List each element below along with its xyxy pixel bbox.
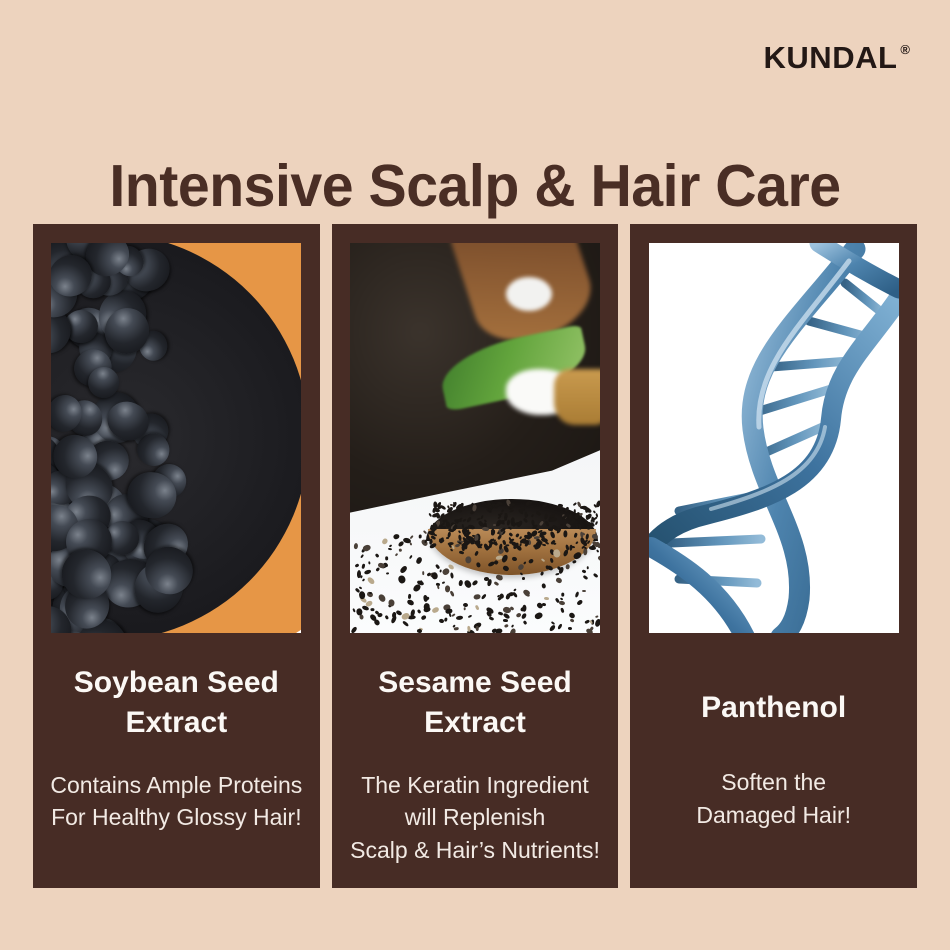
sesame-seed [474, 593, 482, 600]
sesame-seed [397, 574, 406, 584]
sesame-scene [350, 243, 600, 633]
sesame-seed [596, 549, 600, 553]
sesame-seed [399, 565, 408, 574]
sesame-seed [393, 533, 401, 540]
sesame-seed [458, 580, 463, 586]
sesame-seed [558, 566, 564, 574]
sesame-seed [374, 554, 379, 559]
ingredient-card-row: Soybean Seed Extract Contains Ample Prot… [33, 224, 917, 888]
sesame-seed [434, 563, 440, 569]
sesame-seed [582, 590, 586, 593]
sesame-seed [575, 523, 578, 529]
card-description-sesame: The Keratin Ingredient will Replenish Sc… [344, 769, 606, 867]
sesame-seed [421, 614, 427, 620]
ingredient-card-sesame: Sesame Seed Extract The Keratin Ingredie… [332, 224, 619, 888]
sesame-seed [556, 577, 564, 584]
sesame-seed [388, 600, 394, 608]
sesame-seed [557, 623, 563, 630]
dna-scene [649, 243, 899, 633]
sesame-seed [402, 620, 409, 627]
sesame-seed [401, 612, 410, 621]
sesame-seed [431, 571, 439, 580]
card-title-line: Soybean Seed [74, 666, 279, 699]
sesame-seed [543, 597, 549, 601]
sesame-seed [406, 599, 415, 607]
sesame-seed [444, 617, 448, 621]
sesame-seed [574, 591, 579, 598]
sesame-seed [570, 618, 575, 623]
sesame-seed [441, 581, 444, 584]
brand-name: KUNDAL [764, 42, 898, 73]
sesame-seed [592, 573, 598, 579]
sesame-photo [350, 243, 600, 633]
sesame-seed [471, 580, 478, 587]
sesame-seed [565, 564, 570, 570]
sesame-seed [559, 600, 566, 605]
sesame-seed [580, 531, 584, 537]
card-desc-line: Contains Ample Proteins [50, 772, 302, 798]
dna-helix-icon [649, 243, 899, 633]
sesame-seed [481, 593, 487, 599]
ingredient-card-panthenol: Panthenol Soften the Damaged Hair! [630, 224, 917, 888]
card-desc-line: For Healthy Glossy Hair! [51, 804, 302, 830]
sesame-seed [368, 561, 370, 564]
sesame-seed [586, 567, 588, 571]
sesame-seed [597, 555, 600, 562]
sesame-seed [540, 571, 544, 576]
sesame-seed [542, 602, 546, 605]
sesame-seed [494, 628, 502, 633]
card-title-line: Extract [424, 706, 526, 739]
sesame-seed [385, 615, 389, 620]
sesame-seed [574, 509, 576, 513]
sesame-seed [409, 555, 413, 559]
sesame-seed [386, 556, 389, 560]
sesame-seed [568, 612, 576, 620]
sesame-seed [375, 567, 380, 572]
sesame-seed [561, 607, 565, 613]
sesame-seed [360, 554, 364, 559]
sesame-seed [505, 513, 508, 518]
soybean-photo [51, 243, 301, 633]
card-description-panthenol: Soften the Damaged Hair! [690, 766, 857, 831]
sesame-seed [568, 627, 572, 630]
sesame-seed [551, 621, 555, 625]
sesame-seed [467, 614, 472, 618]
sesame-seed [363, 569, 371, 575]
card-description-soybean: Contains Ample Proteins For Healthy Glos… [44, 769, 308, 834]
sesame-seed [449, 590, 455, 597]
sesame-seed [512, 588, 516, 592]
sesame-seed [510, 628, 517, 633]
card-title-line: Extract [125, 706, 227, 739]
soybean-pile-shape [51, 243, 301, 633]
card-title-panthenol: Panthenol [691, 688, 856, 728]
ingredient-infographic-poster: KUNDAL ® Intensive Scalp & Hair Care Soy… [0, 0, 950, 950]
sesame-seed [494, 581, 499, 586]
sesame-seed [506, 593, 512, 600]
sesame-seed [583, 548, 587, 555]
sesame-seed [388, 548, 392, 551]
card-desc-line: Damaged Hair! [696, 802, 851, 828]
brand-logo: KUNDAL ® [764, 42, 910, 73]
sesame-seed [595, 615, 599, 617]
jar-opening-shape [506, 277, 552, 311]
sesame-seed [362, 564, 366, 570]
sesame-seed [378, 594, 388, 604]
sesame-seed [541, 583, 546, 589]
sesame-seed [353, 543, 358, 549]
sesame-seed [576, 599, 583, 606]
card-desc-line: The Keratin Ingredient [361, 772, 589, 798]
panthenol-photo [649, 243, 899, 633]
sesame-seed [594, 618, 600, 627]
sesame-seed [352, 608, 356, 612]
sesame-seed [439, 619, 445, 624]
sesame-seed [444, 608, 452, 614]
sesame-seed [590, 626, 594, 631]
soybean-cluster [51, 243, 301, 633]
card-title-soybean: Soybean Seed Extract [64, 663, 289, 743]
sesame-seed [386, 572, 389, 575]
sesame-seed [475, 604, 479, 609]
sesame-seed [555, 573, 560, 576]
sesame-seed [351, 626, 358, 633]
sesame-seed [585, 507, 588, 512]
card-desc-line: Scalp & Hair’s Nutrients! [350, 837, 600, 863]
bottom-background-strip [0, 888, 950, 950]
sesame-seed [503, 618, 509, 621]
sesame-seed [593, 516, 598, 521]
sesame-seed [458, 535, 462, 541]
sesame-seed [422, 531, 426, 535]
sesame-seed [534, 611, 543, 619]
card-title-sesame: Sesame Seed Extract [368, 663, 581, 743]
sesame-seed [511, 624, 514, 628]
sesame-seed [419, 535, 422, 539]
card-desc-line: Soften the [721, 769, 826, 795]
sesame-seed [366, 576, 375, 585]
sesame-seed [496, 574, 504, 581]
sesame-seed [456, 615, 464, 620]
sesame-seed [400, 548, 403, 552]
gold-bowl-shape [554, 369, 600, 425]
sesame-seed [461, 546, 465, 551]
sesame-seed [467, 625, 471, 631]
sesame-seed [355, 563, 360, 568]
sesame-seed [416, 556, 423, 564]
page-title: Intensive Scalp & Hair Care [14, 152, 936, 220]
sesame-seed [408, 593, 412, 598]
sesame-seed [503, 624, 508, 629]
sesame-seed [549, 624, 557, 632]
sesame-seed [370, 608, 374, 611]
sesame-seed [553, 548, 561, 557]
sesame-seed [463, 607, 465, 610]
registered-trademark-icon: ® [900, 43, 910, 56]
sesame-seed [417, 628, 423, 632]
sesame-seed [454, 627, 459, 631]
sesame-seed [451, 613, 456, 617]
sesame-seed [450, 572, 454, 578]
sesame-seed [581, 570, 586, 574]
sesame-seed [487, 579, 492, 587]
sesame-seed [416, 609, 421, 614]
card-title-line: Panthenol [701, 691, 846, 724]
sesame-seed [362, 578, 365, 582]
sesame-seed [522, 577, 526, 580]
sesame-seed [423, 606, 431, 613]
sesame-seed [476, 626, 479, 631]
sesame-seed [582, 575, 588, 580]
sesame-seed [441, 526, 446, 529]
sesame-seed [523, 620, 528, 625]
ingredient-card-soybean: Soybean Seed Extract Contains Ample Prot… [33, 224, 320, 888]
sesame-seed [444, 585, 449, 592]
sesame-seed [409, 542, 412, 546]
sesame-seed [381, 537, 388, 545]
sesame-seed [561, 593, 564, 597]
sesame-seed [395, 553, 398, 556]
sesame-seed [422, 572, 425, 576]
sesame-seed [521, 612, 528, 619]
sesame-seed [431, 607, 439, 614]
card-desc-line: will Replenish [405, 804, 546, 830]
card-title-line: Sesame Seed [378, 666, 571, 699]
